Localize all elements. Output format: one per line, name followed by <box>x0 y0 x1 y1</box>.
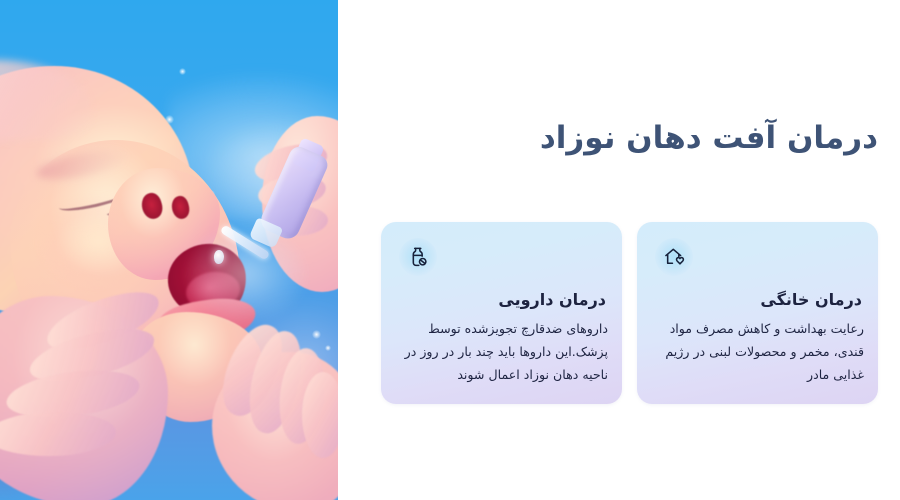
sparkle-icon <box>312 330 321 339</box>
card-home-treatment[interactable]: درمان خانگی رعایت بهداشت و کاهش مصرف موا… <box>637 222 878 404</box>
content-panel: درمان آفت دهان نوزاد درمان خانگی رعایت ب… <box>338 0 900 500</box>
card-medical-treatment[interactable]: درمان دارویی داروهای ضدقارچ تجویزشده توس… <box>381 222 622 404</box>
baby-medicine-dropper-illustration <box>0 0 338 500</box>
card-title: درمان خانگی <box>653 290 862 311</box>
page-title: درمان آفت دهان نوزاد <box>368 118 878 160</box>
treatment-cards: درمان خانگی رعایت بهداشت و کاهش مصرف موا… <box>381 222 878 404</box>
card-body: داروهای ضدقارچ تجویزشده توسط پزشک.این دا… <box>395 318 608 387</box>
sparkle-icon <box>179 68 186 75</box>
card-body: رعایت بهداشت و کاهش مصرف مواد قندی، مخمر… <box>651 318 864 387</box>
sparkle-icon <box>325 345 331 351</box>
finger <box>302 372 338 458</box>
medicine-bottle-icon <box>399 238 437 276</box>
house-heart-icon <box>655 238 693 276</box>
card-title: درمان دارویی <box>397 290 606 311</box>
infographic-page: درمان آفت دهان نوزاد درمان خانگی رعایت ب… <box>0 0 900 500</box>
